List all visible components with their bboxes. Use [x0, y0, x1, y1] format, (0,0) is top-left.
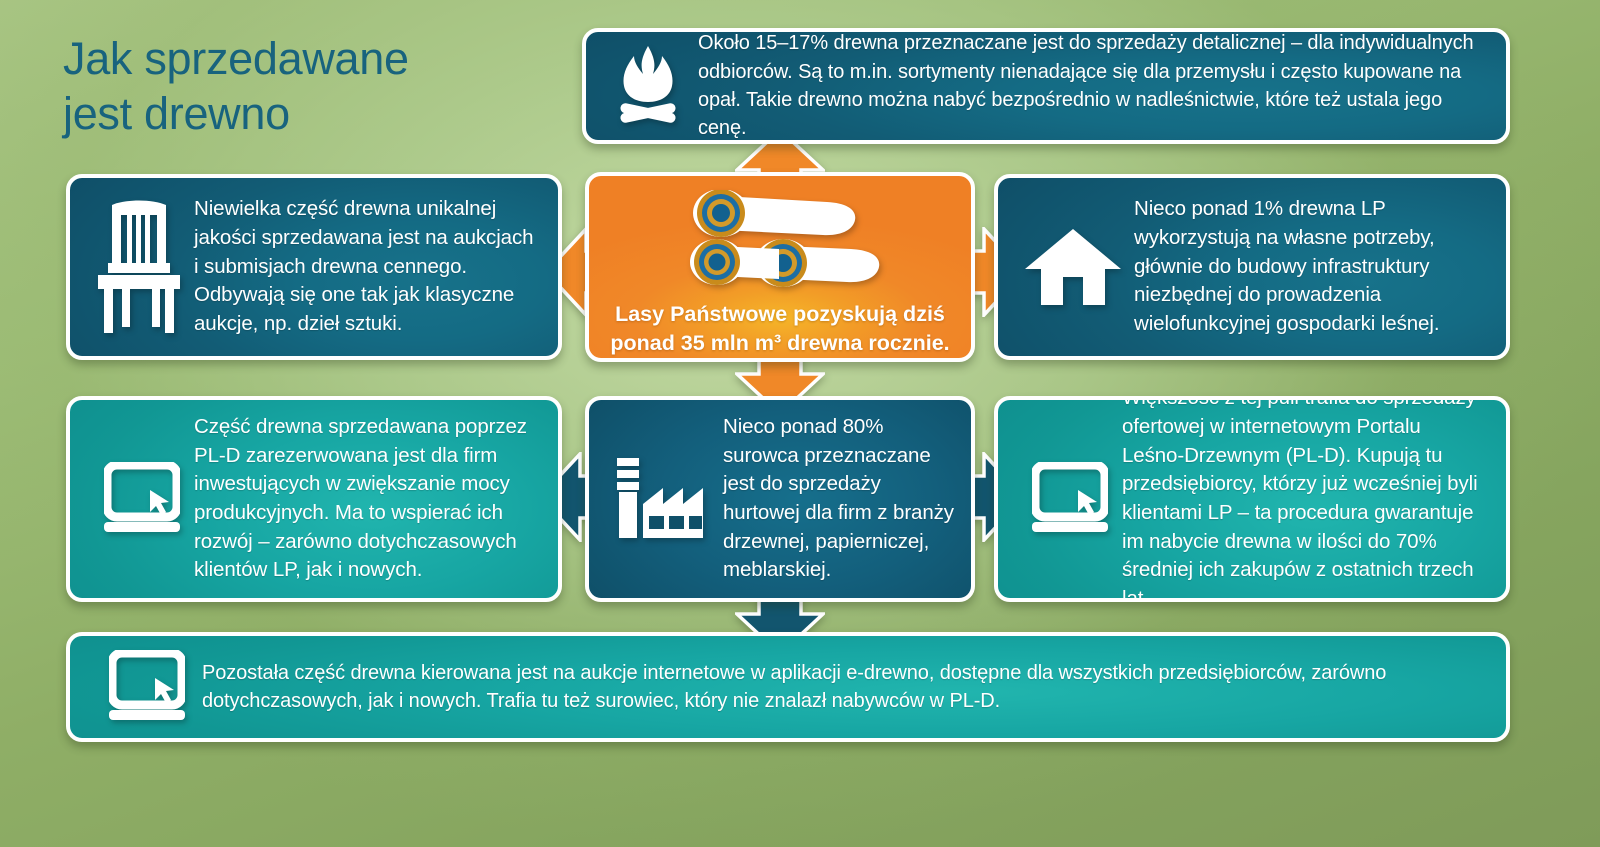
- caption-line-2: ponad 35 mln m³ drewna rocznie.: [610, 329, 949, 358]
- house-icon: [1012, 225, 1134, 309]
- laptop-cursor-icon: [1018, 462, 1122, 536]
- box-total-harvest[interactable]: Lasy Państwowe pozyskują dziś ponad 35 m…: [585, 172, 975, 362]
- page-title-line-1: Jak sprzedawane: [63, 32, 583, 87]
- infographic-canvas: Jak sprzedawane jest drewno: [0, 0, 1600, 847]
- box-wholesale-text: Nieco ponad 80% surowca przeznaczane jes…: [723, 413, 957, 585]
- box-e-drewno[interactable]: Pozostała część drewna kierowana jest na…: [66, 632, 1510, 742]
- box-pld-reserved[interactable]: Część drewna sprzedawana poprzez PL-D za…: [66, 396, 562, 602]
- box-pld-portal[interactable]: Większość z tej puli trafia do sprzedaży…: [994, 396, 1510, 602]
- box-pld-portal-text: Większość z tej puli trafia do sprzedaży…: [1122, 396, 1488, 602]
- box-own-needs-text: Nieco ponad 1% drewna LP wykorzystują na…: [1134, 195, 1486, 338]
- page-title: Jak sprzedawane jest drewno: [63, 32, 583, 142]
- box-auctions-text: Niewielka część drewna unikalnej jakości…: [194, 195, 538, 338]
- box-retail-sales-text: Około 15–17% drewna przeznaczane jest do…: [698, 29, 1482, 143]
- caption-line-1: Lasy Państwowe pozyskują dziś: [610, 300, 949, 329]
- page-title-line-2: jest drewno: [63, 87, 583, 142]
- box-auctions[interactable]: Niewielka część drewna unikalnej jakości…: [66, 174, 562, 360]
- laptop-cursor-icon: [92, 650, 202, 724]
- box-retail-sales[interactable]: Około 15–17% drewna przeznaczane jest do…: [582, 28, 1510, 144]
- campfire-icon: [602, 44, 694, 128]
- laptop-cursor-icon: [90, 462, 194, 536]
- logs-icon: [675, 190, 885, 294]
- chair-icon: [84, 197, 194, 337]
- factory-icon: [599, 456, 723, 542]
- box-wholesale[interactable]: Nieco ponad 80% surowca przeznaczane jes…: [585, 396, 975, 602]
- box-pld-reserved-text: Część drewna sprzedawana poprzez PL-D za…: [194, 413, 540, 585]
- box-total-harvest-caption: Lasy Państwowe pozyskują dziś ponad 35 m…: [610, 300, 949, 357]
- box-own-needs[interactable]: Nieco ponad 1% drewna LP wykorzystują na…: [994, 174, 1510, 360]
- box-e-drewno-text: Pozostała część drewna kierowana jest na…: [202, 659, 1476, 715]
